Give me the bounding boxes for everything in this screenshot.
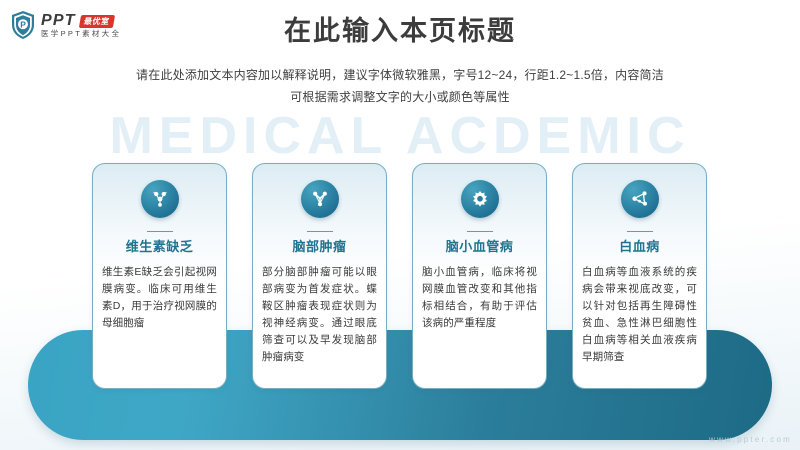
card-item[interactable]: 脑部肿瘤 部分脑部肿瘤可能以眼部病变为首发症状。蝶鞍区肿瘤表现症状则为视神经病变… [252, 163, 387, 389]
node-network-icon [301, 180, 339, 218]
card-item[interactable]: 白血病 白血病等血液系统的疾病会带来视底改变，可以针对包括再生障碍性贫血、急性淋… [572, 163, 707, 389]
molecule-cluster-icon [141, 180, 179, 218]
card-divider [147, 231, 173, 232]
background-watermark-text: MEDICAL ACDEMIC [0, 110, 800, 162]
card-row: 维生素缺乏 维生素E缺乏会引起视网膜病变。临床可用维生素D，用于治疗视网膜的母细… [92, 163, 708, 389]
page-subtitle-line-2: 可根据需求调整文字的大小或颜色等属性 [80, 86, 720, 108]
page-subtitle: 请在此处添加文本内容加以解释说明，建议字体微软雅黑，字号12~24，行距1.2~… [80, 64, 720, 108]
card-title: 白血病 [619, 239, 660, 255]
card-body: 部分脑部肿瘤可能以眼部病变为首发症状。蝶鞍区肿瘤表现症状则为视神经病变。通过眼底… [262, 264, 377, 366]
card-divider [627, 231, 653, 232]
card-divider [467, 231, 493, 232]
card-body: 脑小血管病，临床将视网膜血管改变和其他指标相结合，有助于评估该病的严重程度 [422, 264, 537, 332]
card-title: 维生素缺乏 [126, 239, 194, 255]
card-item[interactable]: 脑小血管病 脑小血管病，临床将视网膜血管改变和其他指标相结合，有助于评估该病的严… [412, 163, 547, 389]
share-nodes-icon [621, 180, 659, 218]
card-body: 维生素E缺乏会引起视网膜病变。临床可用维生素D，用于治疗视网膜的母细胞瘤 [102, 264, 217, 332]
card-body: 白血病等血液系统的疾病会带来视底改变，可以针对包括再生障碍性贫血、急性淋巴细胞性… [582, 264, 697, 366]
gear-virus-icon [461, 180, 499, 218]
site-watermark: www.ppter.com [709, 435, 792, 444]
slide-canvas: P PPT 最优室 医学PPT素材大全 在此输入本页标题 请在此处添加文本内容加… [0, 0, 800, 450]
card-divider [307, 231, 333, 232]
page-subtitle-line-1: 请在此处添加文本内容加以解释说明，建议字体微软雅黑，字号12~24，行距1.2~… [80, 64, 720, 86]
card-title: 脑小血管病 [446, 239, 514, 255]
card-item[interactable]: 维生素缺乏 维生素E缺乏会引起视网膜病变。临床可用维生素D，用于治疗视网膜的母细… [92, 163, 227, 389]
card-title: 脑部肿瘤 [292, 239, 346, 255]
page-title: 在此输入本页标题 [0, 15, 800, 47]
